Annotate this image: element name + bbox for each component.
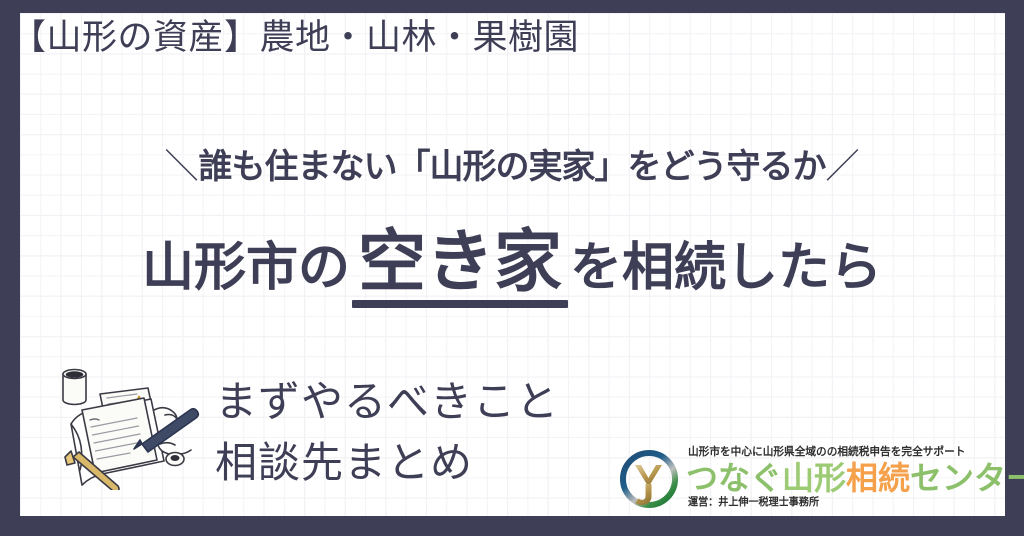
brand-logo[interactable]: 山形市を中心に山形県全域のの相続税申告を完全サポート つなぐ山形相続センター 運…: [616, 444, 996, 514]
eyecatch-banner: 【山形の資産】農地・山林・果樹園 ＼誰も住まない「山形の実家」をどう守るか／ 山…: [0, 0, 1024, 536]
headline-prefix: 山形市の: [142, 240, 350, 297]
headline-emphasis-underline: [352, 300, 568, 308]
content-layer: 【山形の資産】農地・山林・果樹園 ＼誰も住まない「山形の実家」をどう守るか／ 山…: [0, 0, 1024, 536]
copy-line-2: 相談先まとめ: [215, 433, 559, 494]
hand-writing-document-illustration: [38, 358, 218, 490]
copy-line-1: まずやるべきこと: [215, 372, 559, 433]
headline-emphasis: 空き家: [350, 228, 570, 296]
logo-name-part-4: センター: [910, 460, 1024, 496]
slash-left-icon: ＼: [165, 146, 199, 189]
copy-block: まずやるべきこと 相談先まとめ: [215, 372, 559, 494]
logo-tagline: 山形市を中心に山形県全域のの相続税申告を完全サポート: [688, 446, 965, 459]
tsunagu-y-circle-logo-icon: [616, 446, 682, 512]
headline-suffix: を相続したら: [570, 240, 882, 297]
headline: 山形市の空き家を相続したら: [0, 228, 1024, 297]
logo-name: つなぐ山形相続センター: [686, 462, 1024, 496]
headline-emphasis-text: 空き家: [358, 224, 562, 300]
logo-name-part-1: つなぐ: [686, 460, 782, 496]
subline-text: 誰も住まない「山形の実家」をどう守るか: [199, 148, 826, 186]
subline: ＼誰も住まない「山形の実家」をどう守るか／: [0, 146, 1024, 189]
logo-name-part-2: 山形: [782, 460, 846, 496]
logo-operator: 運営：井上伸一税理士事務所: [688, 496, 819, 509]
kicker-text: 【山形の資産】農地・山林・果樹園: [11, 17, 579, 59]
slash-right-icon: ／: [826, 146, 860, 189]
logo-name-part-3: 相続: [846, 460, 910, 496]
